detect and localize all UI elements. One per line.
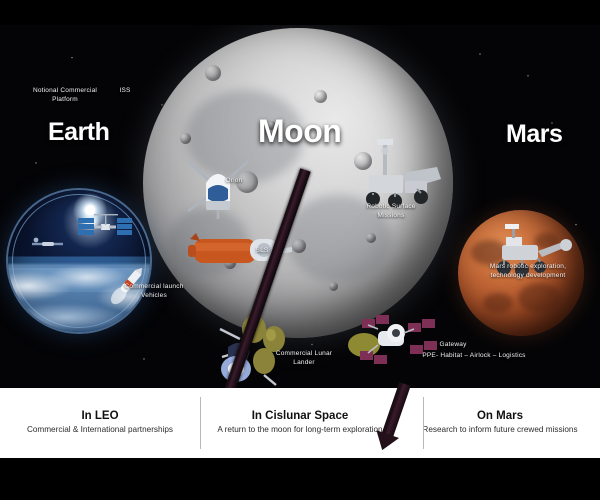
footer-divider-right: [423, 397, 424, 449]
footer-divider-left: [200, 397, 201, 449]
mars-surface-feature: [518, 283, 561, 313]
moon-crater: [205, 65, 221, 81]
label-orion: Orion: [214, 177, 254, 186]
moon-crater: [366, 233, 376, 243]
footer-subtitle-cislunar: A return to the moon for long-term explo…: [217, 424, 382, 435]
label-gateway: Gateway: [418, 341, 488, 350]
iss-illustration: [74, 212, 136, 242]
label-commercial-lunar-lander: Commercial Lunar Lander: [258, 350, 350, 368]
label-commercial-launch-vehicles: Commercial launch Vehicles: [108, 283, 200, 301]
footer-column-mars: On Mars Research to inform future crewed…: [400, 388, 600, 458]
label-mars-exploration: Mars robotic exploration, technology dev…: [472, 263, 584, 281]
label-sls: SLS: [245, 247, 279, 256]
footer-title-leo: In LEO: [81, 410, 118, 422]
footer-subtitle-leo: Commercial & International partnerships: [27, 424, 173, 435]
label-robotic-surface-missions: Robotic Surface Missions: [352, 203, 430, 221]
footer-subtitle-mars: Research to inform future crewed mission…: [422, 424, 577, 435]
label-gateway-elements: PPE- Habitat – Airlock – Logistics: [396, 352, 552, 361]
moon-crater: [329, 282, 338, 291]
earth-sphere: [8, 190, 150, 332]
notional-commercial-platform-illustration: [28, 236, 66, 252]
label-iss: ISS: [108, 87, 142, 96]
footer-columns: In LEO Commercial & International partne…: [0, 388, 600, 458]
moon-crater: [314, 90, 327, 103]
heading-moon: Moon: [258, 113, 341, 150]
orion-spacecraft-illustration: [178, 149, 256, 225]
heading-mars: Mars: [506, 120, 562, 149]
footer-title-cislunar: In Cislunar Space: [252, 410, 349, 422]
mars-surface-feature: [483, 293, 513, 313]
footer-column-leo: In LEO Commercial & International partne…: [0, 388, 200, 458]
space-scene: Notional Commercial Platform ISS Commerc…: [0, 25, 600, 388]
heading-earth: Earth: [48, 118, 109, 147]
footer-column-cislunar: In Cislunar Space A return to the moon f…: [200, 388, 400, 458]
footer-title-mars: On Mars: [477, 410, 523, 422]
infographic-root: Notional Commercial Platform ISS Commerc…: [0, 0, 600, 500]
footer-panel: In LEO Commercial & International partne…: [0, 388, 600, 458]
label-notional-commercial-platform: Notional Commercial Platform: [10, 87, 120, 105]
